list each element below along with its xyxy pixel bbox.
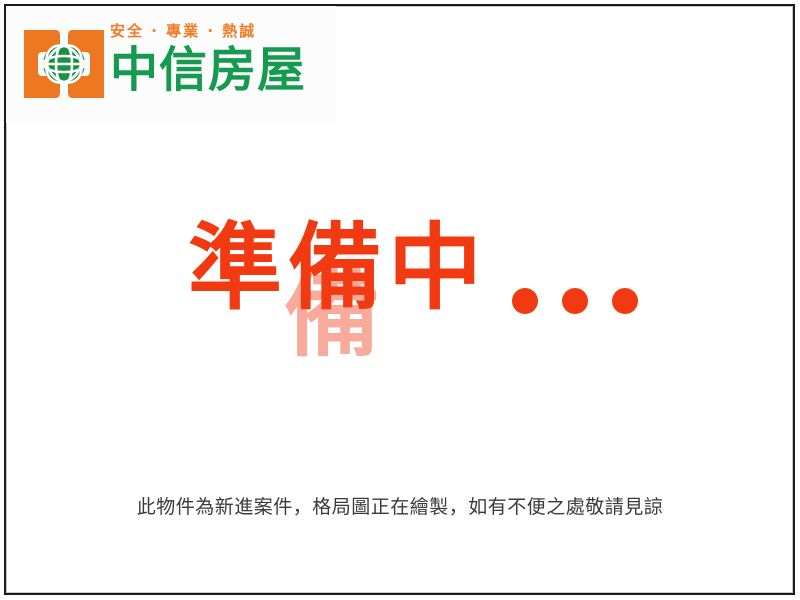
ellipsis-dots [512, 288, 638, 314]
headline-area: 準備中 備 [0, 222, 800, 342]
zhongxin-globe-logo-icon [22, 26, 106, 102]
ellipsis-dot [562, 288, 588, 314]
brand-tagline: 安全 · 專業 · 熱誠 [110, 24, 328, 39]
brand-logo-block: 安全 · 專業 · 熱誠 中信房屋 [6, 6, 336, 123]
ellipsis-dot [512, 288, 538, 314]
ellipsis-dot [612, 288, 638, 314]
placeholder-image-canvas: 安全 · 專業 · 熱誠 中信房屋 準備中 備 此物件為新進案件，格局圖正在繪製… [0, 0, 800, 600]
ghost-watermark-glyph: 備 [284, 266, 380, 362]
brand-wordmark: 安全 · 專業 · 熱誠 中信房屋 [110, 24, 328, 95]
footer-note: 此物件為新進案件，格局圖正在繪製，如有不便之處敬請見諒 [0, 495, 800, 520]
brand-name: 中信房屋 [110, 45, 328, 95]
